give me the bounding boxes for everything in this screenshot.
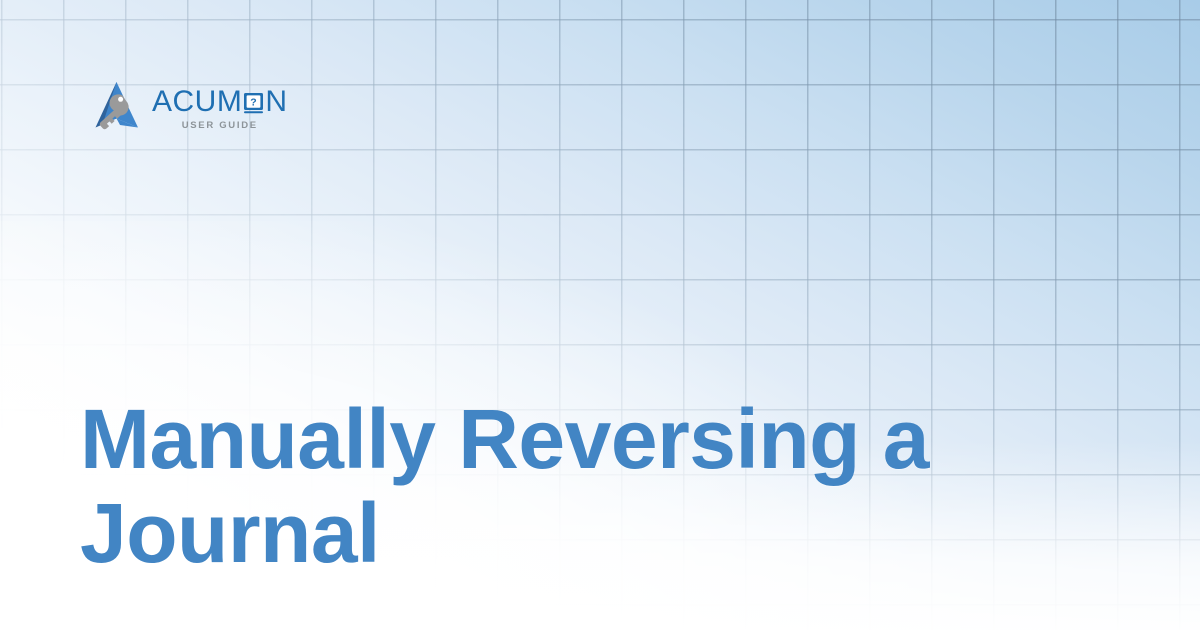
logo-tagline: USER GUIDE — [182, 121, 258, 131]
logo-wordmark-part2: N — [265, 87, 287, 117]
svg-text:?: ? — [251, 96, 257, 108]
logo[interactable]: ACUM ? N USER GUIDE — [86, 74, 276, 142]
logo-wordmark-text: ACUM ? N — [152, 87, 288, 117]
logo-wordmark: ACUM ? N USER GUIDE — [152, 85, 288, 131]
book-question-icon: ? — [243, 92, 264, 115]
page-title: Manually Reversing a Journal — [80, 392, 1020, 580]
acumen-triangle-key-icon — [86, 77, 148, 139]
logo-wordmark-part1: ACUM — [152, 87, 242, 117]
banner-canvas: ACUM ? N USER GUIDE Manually Reversing a… — [0, 0, 1200, 630]
